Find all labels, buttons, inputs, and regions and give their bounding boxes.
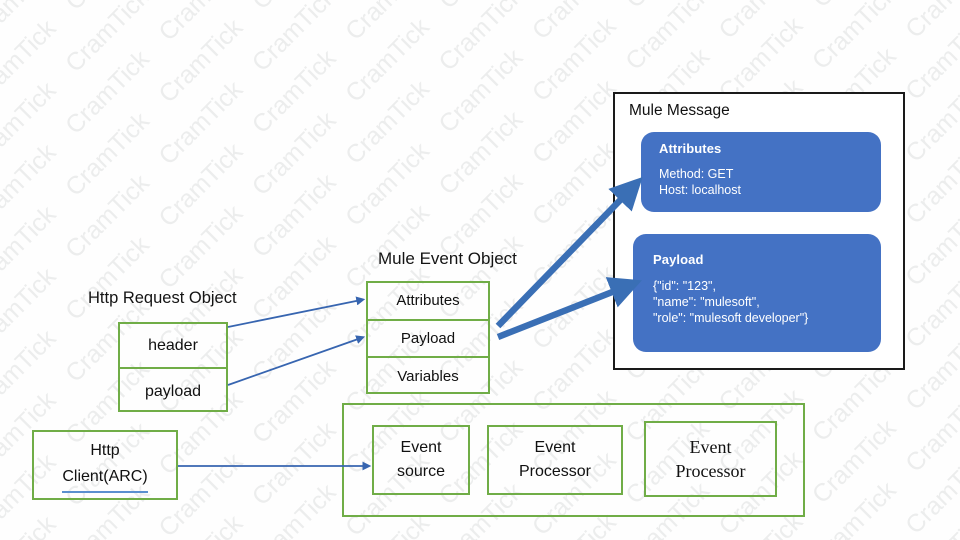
http-request-object-title: Http Request Object: [88, 289, 237, 308]
attributes-card-heading: Attributes: [659, 141, 721, 156]
http-request-object-box: header payload: [118, 322, 228, 412]
payload-card: Payload {"id": "123", "name": "mulesoft"…: [633, 234, 881, 352]
attributes-card-body: Method: GET Host: localhost: [659, 166, 741, 198]
arrow-event-attributes-to-message-attributes: [498, 190, 630, 326]
flow-box-event-source-line2: source: [397, 460, 445, 484]
arrow-header-to-attributes: [228, 300, 361, 327]
event-object-row-attributes: Attributes: [368, 283, 488, 321]
payload-card-heading: Payload: [653, 252, 704, 267]
event-object-row-variables: Variables: [368, 358, 488, 396]
flow-box-event-source-line1: Event: [401, 436, 442, 460]
watermark-row: CramTickCramTickCramTickCramTickCramTick…: [0, 0, 960, 49]
flow-box-event-processor-1-line1: Event: [535, 436, 576, 460]
diagram-canvas: CramTickCramTickCramTickCramTickCramTick…: [0, 0, 960, 540]
http-request-row-header: header: [120, 324, 226, 369]
flow-box-event-processor-2-line2: Processor: [676, 459, 746, 483]
flow-box-event-source: Event source: [372, 425, 470, 495]
arrow-event-payload-to-message-payload: [498, 287, 625, 337]
http-request-row-payload: payload: [120, 369, 226, 414]
event-object-row-payload: Payload: [368, 321, 488, 359]
mule-message-panel: Mule Message Attributes Method: GET Host…: [613, 92, 905, 370]
mule-event-object-box: Attributes Payload Variables: [366, 281, 490, 394]
mule-message-title: Mule Message: [629, 102, 730, 120]
http-client-line2: Client(ARC): [62, 464, 147, 493]
flow-box-event-processor-1-line2: Processor: [519, 460, 591, 484]
flow-box-event-processor-2-line1: Event: [690, 435, 732, 459]
arrow-payload-to-payload: [228, 338, 361, 385]
flow-box-event-processor-2: Event Processor: [644, 421, 777, 497]
payload-card-body: {"id": "123", "name": "mulesoft", "role"…: [653, 278, 808, 326]
http-client-label: Http Client(ARC): [32, 430, 178, 500]
mule-event-object-title: Mule Event Object: [378, 249, 517, 269]
flow-box-event-processor-1: Event Processor: [487, 425, 623, 495]
http-client-line1: Http: [90, 438, 119, 464]
attributes-card: Attributes Method: GET Host: localhost: [641, 132, 881, 212]
